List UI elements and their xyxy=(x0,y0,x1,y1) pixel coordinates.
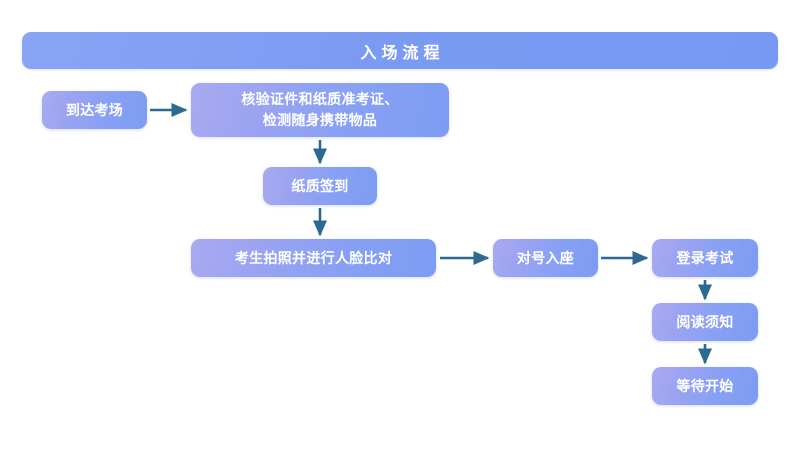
node-wait-for-start[interactable]: 等待开始 xyxy=(652,367,758,405)
node-verify-documents[interactable]: 核验证件和纸质准考证、 检测随身携带物品 xyxy=(191,83,449,137)
node-label: 阅读须知 xyxy=(670,312,739,333)
node-label: 到达考场 xyxy=(60,100,129,121)
node-label: 核验证件和纸质准考证、 检测随身携带物品 xyxy=(235,89,404,131)
node-label: 考生拍照并进行人脸比对 xyxy=(229,248,398,269)
node-label: 纸质签到 xyxy=(285,176,354,197)
node-arrive-at-venue[interactable]: 到达考场 xyxy=(42,91,147,129)
node-login-exam[interactable]: 登录考试 xyxy=(652,239,758,277)
node-photo-face-comparison[interactable]: 考生拍照并进行人脸比对 xyxy=(191,239,436,277)
diagram-title-banner: 入场流程 xyxy=(22,32,778,69)
flowchart-canvas: 入场流程 到达考场 核验证件和纸质准考证、 检测随身携带物品 纸质签到 考生拍照… xyxy=(0,0,800,449)
node-take-assigned-seat[interactable]: 对号入座 xyxy=(493,239,598,277)
node-label: 登录考试 xyxy=(670,248,739,269)
node-label: 等待开始 xyxy=(670,376,739,397)
diagram-title: 入场流程 xyxy=(355,39,444,63)
node-paper-signin[interactable]: 纸质签到 xyxy=(263,167,377,205)
node-label: 对号入座 xyxy=(511,248,580,269)
node-read-instructions[interactable]: 阅读须知 xyxy=(652,303,758,341)
